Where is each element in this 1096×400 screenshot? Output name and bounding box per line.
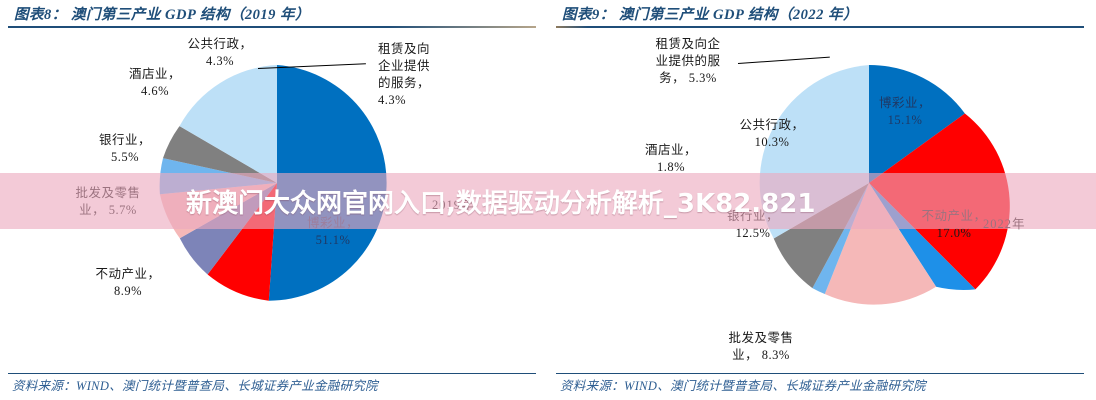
source-note-2019: 资料来源：WIND、澳门统计暨普查局、长城证券产业金融研究院 — [12, 375, 378, 394]
figure-title-2022: 图表9： 澳门第三产业 GDP 结构（2022 年） — [562, 3, 858, 24]
panel-2019: 图表8： 澳门第三产业 GDP 结构（2019 年） — [0, 0, 548, 400]
label-hotel-2019: 酒店业， 4.6% — [110, 66, 200, 100]
label-banking-2019: 银行业， 5.5% — [80, 132, 170, 166]
label-public-admin-2022: 公共行政， 10.3% — [724, 117, 820, 151]
legend-year-2019: 2019年 — [432, 194, 475, 213]
title-divider — [556, 26, 1084, 28]
figure-page: 图表8： 澳门第三产业 GDP 结构（2019 年） — [0, 0, 1096, 400]
source-note-2022: 资料来源：WIND、澳门统计暨普查局、长城证券产业金融研究院 — [560, 375, 926, 394]
label-wholesale-2019: 批发及零售 业， 5.7% — [54, 185, 162, 219]
source-divider — [556, 373, 1084, 375]
label-realestate-2019: 不动产业， 8.9% — [78, 266, 178, 300]
title-divider — [8, 26, 536, 28]
label-gaming-2019: 博彩业， 51.1% — [288, 215, 378, 249]
label-banking-2022: 银行业， 12.5% — [705, 208, 801, 242]
label-public-admin-2019: 公共行政， 4.3% — [165, 36, 275, 70]
label-leasing-2022: 租赁及向企 业提供的服 务， 5.3% — [636, 36, 740, 87]
figure-title-2019: 图表8： 澳门第三产业 GDP 结构（2019 年） — [14, 3, 310, 24]
panel-2022: 图表9： 澳门第三产业 GDP 结构（2022 年） — [548, 0, 1096, 400]
legend-year-2022: 2022年 — [983, 213, 1026, 232]
slice-gaming — [269, 65, 387, 301]
label-wholesale-2022: 批发及零售 业， 8.3% — [706, 330, 816, 364]
label-hotel-2022: 酒店业， 1.8% — [626, 142, 716, 176]
label-gaming-2022: 博彩业， 15.1% — [860, 95, 950, 129]
label-leasing-2019: 租赁及向 企业提供 的服务， 4.3% — [378, 41, 474, 109]
source-divider — [8, 373, 536, 375]
